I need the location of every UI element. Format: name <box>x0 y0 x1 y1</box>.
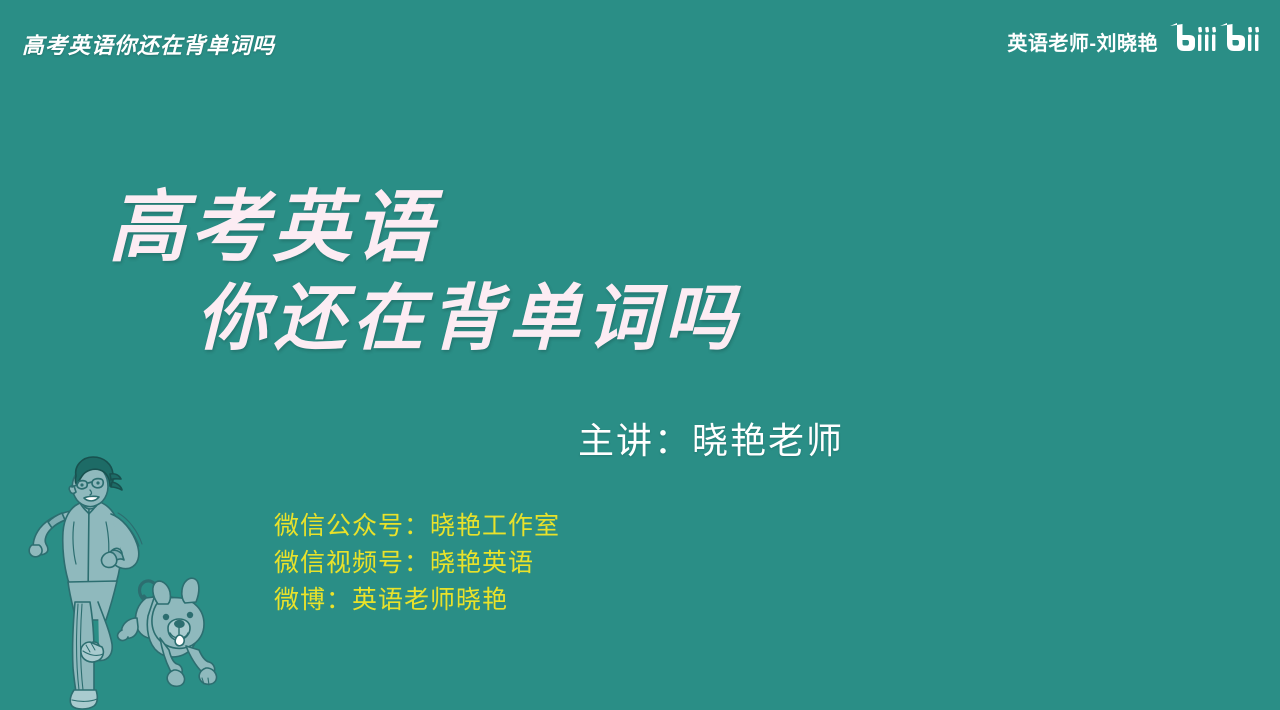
bilibili-logo-icon <box>1168 22 1264 61</box>
contact-line-weibo: 微博：英语老师晓艳 <box>274 584 560 617</box>
channel-watermark-left: 高考英语你还在背单词吗 <box>22 28 275 60</box>
slide-canvas: 高考英语你还在背单词吗 英语老师-刘晓艳 <box>0 0 1280 710</box>
uploader-name: 英语老师-刘晓艳 <box>1007 27 1158 56</box>
title-line-1: 高考英语 <box>108 185 860 271</box>
contact-info-block: 微信公众号：晓艳工作室 微信视频号：晓艳英语 微博：英语老师晓艳 <box>274 510 560 621</box>
uploader-watermark: 英语老师-刘晓艳 <box>1007 22 1264 61</box>
title-line-2: 你还在背单词吗 <box>196 277 860 359</box>
contact-line-wechat-video: 微信视频号：晓艳英语 <box>274 547 560 580</box>
contact-line-wechat-official: 微信公众号：晓艳工作室 <box>274 510 560 543</box>
jogger-with-dog-illustration <box>18 452 233 710</box>
page-title: 高考英语 你还在背单词吗 <box>0 185 860 359</box>
presenter-label: 主讲：晓艳老师 <box>578 412 844 464</box>
